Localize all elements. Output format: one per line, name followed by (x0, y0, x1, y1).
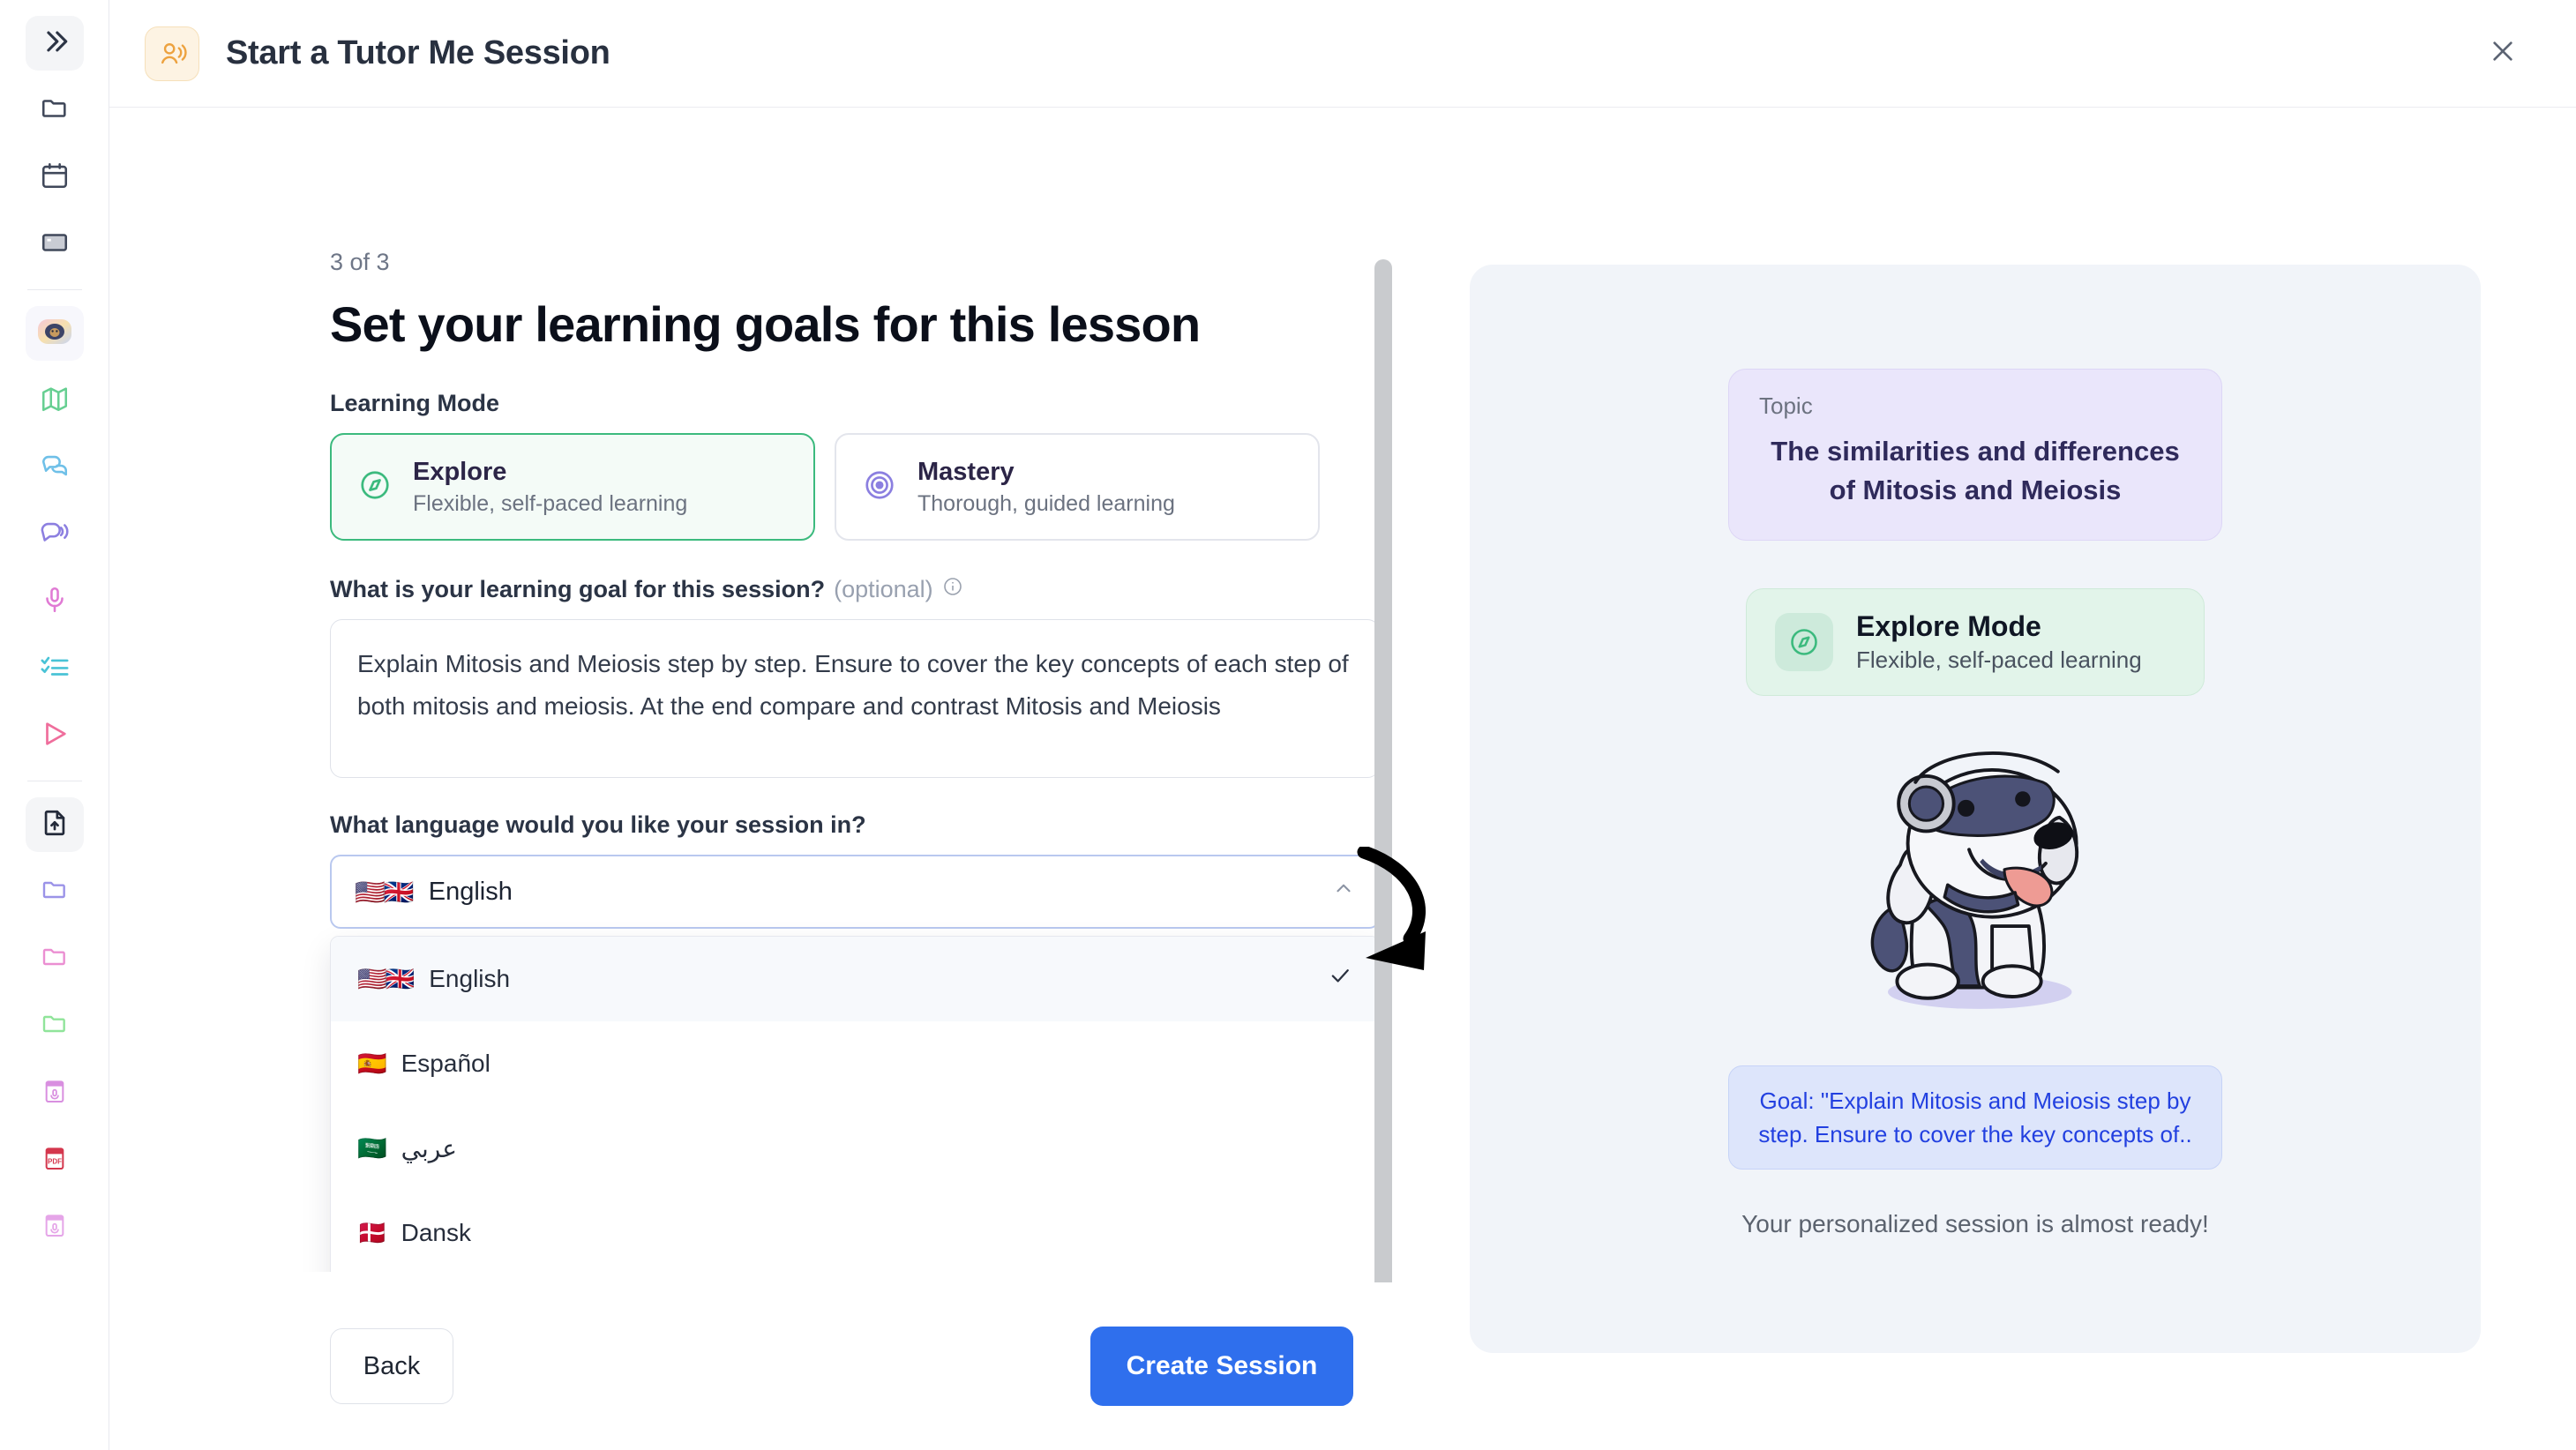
dog-mascot-illustration (1830, 735, 2121, 1030)
map-icon (40, 384, 70, 418)
svg-text:PDF: PDF (48, 1157, 62, 1165)
sidebar-item-whiteboard[interactable] (26, 217, 84, 272)
folder-icon (40, 93, 70, 128)
folder-icon (41, 1010, 69, 1043)
folder-icon (41, 876, 69, 908)
compass-icon (1775, 613, 1833, 671)
topic-value: The similarities and differences of Mito… (1759, 432, 2191, 510)
form-scroll-area: 3 of 3 Set your learning goals for this … (109, 108, 1390, 1272)
language-option-espanol[interactable]: 🇪🇸 Español (331, 1021, 1379, 1106)
sidebar-item-folder[interactable] (26, 83, 84, 138)
flag-icon: 🇸🇦 (357, 1134, 386, 1162)
language-option-label: عربي (401, 1134, 457, 1163)
left-sidebar: PDF (0, 0, 109, 1450)
tutor-speaking-icon (145, 26, 199, 81)
info-icon[interactable] (942, 576, 963, 603)
voice-bubble-icon (40, 518, 70, 552)
goal-preview-bubble: Goal: "Explain Mitosis and Meiosis step … (1728, 1065, 2222, 1170)
modal-scrollbar[interactable] (1374, 259, 1392, 1367)
sidebar-item-voice-chat[interactable] (26, 507, 84, 562)
play-icon (40, 719, 70, 753)
sidebar-item-pdf-file[interactable]: PDF (26, 1132, 84, 1187)
checklist-icon (40, 652, 70, 686)
audio-file-icon (41, 1211, 69, 1244)
sidebar-divider-2 (27, 781, 82, 781)
language-option-label: English (429, 965, 510, 993)
form-heading: Set your learning goals for this lesson (330, 295, 1320, 353)
mode-desc: Flexible, self-paced learning (413, 491, 687, 517)
learning-mode-options: Explore Flexible, self-paced learning Ma… (330, 433, 1320, 541)
language-select[interactable]: 🇺🇸🇬🇧 English (330, 855, 1380, 929)
flag-icon: 🇺🇸🇬🇧 (355, 878, 413, 907)
back-button[interactable]: Back (330, 1328, 453, 1404)
learning-goal-textarea[interactable]: Explain Mitosis and Meiosis step by step… (330, 619, 1380, 778)
chat-bubbles-icon (40, 451, 70, 485)
step-indicator: 3 of 3 (330, 249, 1320, 276)
sidebar-item-chat[interactable] (26, 440, 84, 495)
sidebar-item-tutor-avatar[interactable] (26, 306, 84, 361)
calendar-icon (40, 161, 70, 195)
language-dropdown: 🇺🇸🇬🇧 English 🇪🇸 Español (330, 936, 1380, 1272)
form-column: 3 of 3 Set your learning goals for this … (109, 108, 1424, 1450)
session-preview-card: Topic The similarities and differences o… (1470, 265, 2481, 1353)
sidebar-item-calendar[interactable] (26, 150, 84, 205)
folder-icon (41, 943, 69, 975)
language-option-arabic[interactable]: 🇸🇦 عربي (331, 1106, 1379, 1191)
preview-mode-pill: Explore Mode Flexible, self-paced learni… (1746, 588, 2205, 696)
close-button[interactable] (2477, 28, 2528, 79)
file-upload-icon (40, 808, 70, 842)
sidebar-item-folder-green[interactable] (26, 998, 84, 1053)
page-title: Start a Tutor Me Session (226, 34, 610, 72)
sidebar-item-folder-pink[interactable] (26, 931, 84, 986)
app-root: PDF Start a Tutor Me Session (0, 0, 2576, 1450)
audio-file-icon (41, 1077, 69, 1110)
sidebar-item-checklist[interactable] (26, 641, 84, 696)
mode-card-explore[interactable]: Explore Flexible, self-paced learning (330, 433, 815, 541)
mode-name: Explore (413, 457, 687, 488)
language-select-value: English (429, 878, 513, 907)
learning-goal-label: What is your learning goal for this sess… (330, 576, 1320, 603)
topic-label: Topic (1759, 392, 2191, 420)
chevron-up-icon (1332, 877, 1355, 907)
whiteboard-icon (40, 228, 70, 262)
dog-avatar-icon (37, 317, 72, 351)
modal-body: 3 of 3 Set your learning goals for this … (109, 108, 2576, 1450)
preview-mode-desc: Flexible, self-paced learning (1856, 647, 2142, 674)
language-select-wrapper: 🇺🇸🇬🇧 English 🇺🇸🇬🇧 English (330, 855, 1380, 929)
flag-icon: 🇺🇸🇬🇧 (357, 965, 413, 993)
language-option-label: Dansk (401, 1219, 471, 1247)
preview-column: Topic The similarities and differences o… (1424, 108, 2576, 1450)
topic-card: Topic The similarities and differences o… (1728, 369, 2222, 541)
microphone-icon (40, 585, 70, 619)
sidebar-item-mindmap[interactable] (26, 373, 84, 428)
mode-card-mastery[interactable]: Mastery Thorough, guided learning (835, 433, 1320, 541)
chevrons-right-icon (40, 26, 70, 61)
sidebar-divider (27, 289, 82, 290)
compass-icon (358, 468, 392, 506)
tutor-session-modal: Start a Tutor Me Session 3 of 3 Set your… (109, 0, 2576, 1450)
sidebar-item-upload[interactable] (26, 797, 84, 852)
learning-mode-label: Learning Mode (330, 390, 1320, 417)
optional-tag: (optional) (834, 576, 933, 603)
sidebar-item-microphone[interactable] (26, 574, 84, 629)
sidebar-item-audio-file[interactable] (26, 1065, 84, 1120)
target-icon (863, 468, 896, 506)
preview-mode-name: Explore Mode (1856, 610, 2142, 643)
flag-icon: 🇩🇰 (357, 1219, 386, 1247)
language-label: What language would you like your sessio… (330, 811, 1320, 839)
pdf-file-icon: PDF (41, 1144, 69, 1177)
sidebar-item-folder-purple[interactable] (26, 864, 84, 919)
ready-status-text: Your personalized session is almost read… (1737, 1205, 2213, 1244)
close-icon (2489, 37, 2517, 70)
mode-name: Mastery (917, 457, 1175, 488)
create-session-button[interactable]: Create Session (1090, 1327, 1353, 1406)
sidebar-item-audio-file-2[interactable] (26, 1200, 84, 1254)
mode-desc: Thorough, guided learning (917, 491, 1175, 517)
modal-header: Start a Tutor Me Session (109, 0, 2576, 108)
language-option-dansk[interactable]: 🇩🇰 Dansk (331, 1191, 1379, 1272)
sidebar-item-play[interactable] (26, 708, 84, 763)
language-option-english[interactable]: 🇺🇸🇬🇧 English (331, 937, 1379, 1021)
check-icon (1328, 963, 1352, 995)
sidebar-item-expand-sidebar[interactable] (26, 16, 84, 71)
modal-footer: Back Create Session (109, 1282, 1424, 1450)
flag-icon: 🇪🇸 (357, 1050, 386, 1078)
language-option-label: Español (401, 1050, 490, 1078)
